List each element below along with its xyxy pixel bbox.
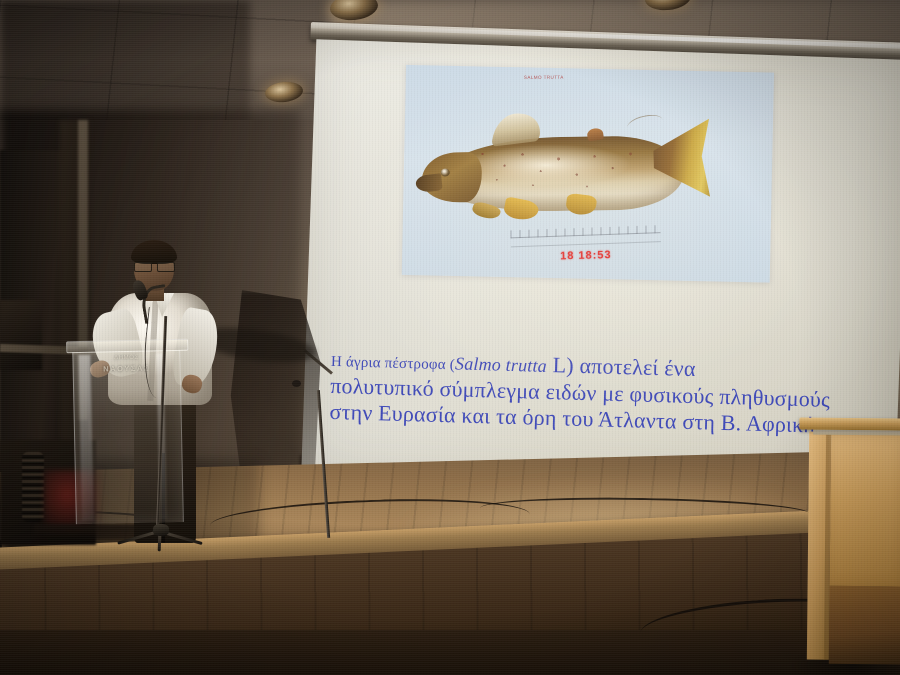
wooden-lectern bbox=[805, 418, 900, 675]
slide-line1-species: Salmo trutta bbox=[455, 353, 547, 376]
slide-photo-trout: SALMO TRUTTA bbox=[402, 65, 774, 283]
trout-anal-fin bbox=[565, 193, 597, 217]
presentation-room-photo: SALMO TRUTTA bbox=[0, 0, 900, 675]
trout-antenna-line bbox=[626, 112, 665, 136]
mic-pole bbox=[317, 390, 330, 538]
trout-eye bbox=[441, 168, 450, 176]
microphone-stand bbox=[136, 282, 216, 547]
microphone-stand-secondary bbox=[300, 372, 346, 542]
mic-tripod-base bbox=[122, 522, 204, 548]
trout-adipose-fin bbox=[586, 127, 604, 141]
trout-dorsal-fin bbox=[491, 110, 543, 146]
lectern-front-panel bbox=[830, 434, 900, 587]
eyeglasses-icon bbox=[134, 262, 175, 270]
ruler-secondline bbox=[511, 241, 661, 247]
slide-line1-part-a: Η άγρια πέστροφα ( bbox=[331, 354, 455, 373]
slide-line1-part-b: L) αποτελεί ένα bbox=[547, 352, 696, 381]
speaker-hair bbox=[131, 240, 177, 264]
lectern-lower-body bbox=[829, 586, 900, 665]
photo-caption: SALMO TRUTTA bbox=[524, 75, 564, 80]
photo-timestamp: 18 18:53 bbox=[560, 249, 612, 262]
cable-coil bbox=[22, 452, 44, 522]
microphone-icon bbox=[292, 380, 301, 387]
av-equipment-box bbox=[0, 300, 42, 370]
trout-snout bbox=[415, 173, 443, 193]
trout-spots bbox=[470, 144, 651, 199]
tripod-hub bbox=[153, 524, 169, 536]
lectern-top-surface bbox=[799, 417, 900, 430]
